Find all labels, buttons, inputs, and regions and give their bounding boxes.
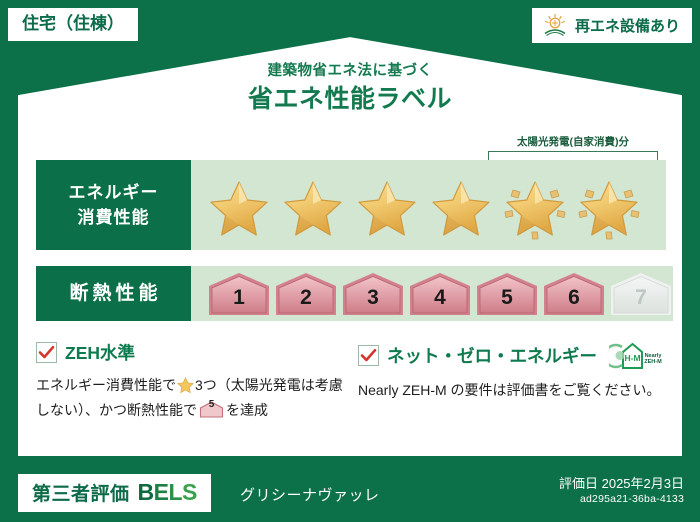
insulation-badge-track: 1234567 [191, 266, 673, 321]
project-name: グリシーナヴァッレ [240, 484, 380, 505]
bels-certification-plate: 第三者評価 BELS [18, 474, 211, 512]
bels-letter-s: S [182, 479, 197, 505]
insulation-badge: 2 [274, 271, 338, 317]
insulation-badge-number: 4 [434, 287, 446, 317]
insulation-badge-number: 5 [501, 287, 513, 317]
zeh-note-title: ZEH水準 [65, 340, 135, 365]
renewable-energy-badge: 再エネ設備あり [532, 8, 692, 43]
bels-letter-b: B [138, 479, 154, 505]
label-main-title: 省エネ性能ラベル [0, 82, 700, 116]
bels-logo: BELS [138, 479, 197, 506]
star-icon [205, 175, 273, 241]
energy-performance-label: 住宅（住棟） 再エネ設備あり 建築物省エネ法に基づく [0, 0, 700, 522]
bels-letter-e: E [154, 479, 169, 505]
insulation-badge: 5 [475, 271, 539, 317]
energy-performance-label: エネルギー 消費性能 [36, 160, 191, 250]
energy-star-track: 太陽光発電(自家消費)分 [191, 160, 666, 250]
nze-note-header: ネット・ゼロ・エネルギー H-M Nearly ZEH-M [358, 340, 680, 370]
label-subtitle: 建築物省エネ法に基づく [0, 62, 700, 81]
energy-label-line2: 消費性能 [78, 205, 150, 230]
insulation-performance-label: 断熱性能 [36, 266, 191, 321]
insulation-badge: 6 [542, 271, 606, 317]
evaluation-info: 評価日 2025年2月3日 ad295a21-36ba-4133 [559, 475, 684, 507]
check-mark-icon [358, 345, 379, 366]
svg-text:ZEH-M: ZEH-M [644, 359, 662, 365]
svg-text:Nearly: Nearly [645, 353, 663, 359]
insulation-badge: 4 [408, 271, 472, 317]
svg-text:H-M: H-M [624, 353, 640, 363]
evaluation-id: ad295a21-36ba-4133 [559, 492, 684, 507]
inline-insulation-badge: 5 [199, 401, 224, 418]
solar-annotation-label: 太陽光発電(自家消費)分 [488, 136, 658, 149]
insulation-badge: 1 [207, 271, 271, 317]
insulation-badge-number: 2 [300, 287, 312, 317]
net-zero-energy-note: ネット・ゼロ・エネルギー H-M Nearly ZEH-M Nearly ZEH… [350, 340, 680, 423]
star-icon [353, 175, 421, 241]
energy-label-line1: エネルギー [69, 180, 159, 205]
check-mark-icon [36, 342, 57, 363]
renewable-energy-label: 再エネ設備あり [575, 15, 680, 36]
solar-bracket [488, 151, 658, 160]
star-icon [427, 175, 495, 241]
building-type-label: 住宅（住棟） [22, 14, 124, 34]
insulation-badge-number: 6 [568, 287, 580, 317]
insulation-badge-number: 1 [233, 287, 245, 317]
star-icon [279, 175, 347, 241]
insulation-badge-number: 3 [367, 287, 379, 317]
nze-note-body: Nearly ZEH-M の要件は評価書をご覧ください。 [358, 378, 680, 403]
insulation-badge: 3 [341, 271, 405, 317]
star-icon [575, 175, 643, 241]
star-icon [501, 175, 569, 241]
label-title-block: 建築物省エネ法に基づく 省エネ性能ラベル [0, 62, 700, 116]
zeh-standard-note: ZEH水準 エネルギー消費性能で3つ（太陽光発電は考慮しない）、かつ断熱性能で5… [0, 340, 350, 423]
insulation-badge-number: 7 [635, 287, 647, 317]
third-party-label: 第三者評価 [32, 479, 130, 506]
building-type-badge: 住宅（住棟） [8, 8, 138, 41]
sun-renewable-icon [542, 13, 568, 37]
star-rating-group [191, 175, 643, 241]
star-icon [177, 376, 194, 393]
bels-letter-l: L [168, 479, 182, 505]
insulation-badge: 7 [609, 271, 673, 317]
solar-contribution-annotation: 太陽光発電(自家消費)分 [488, 136, 658, 160]
inline-badge-number: 5 [199, 401, 224, 418]
zeh-m-house-logo: H-M Nearly ZEH-M [609, 340, 667, 370]
zeh-note-body-part1: エネルギー消費性能で [36, 377, 176, 393]
evaluation-date: 評価日 2025年2月3日 [559, 475, 684, 492]
zeh-note-header: ZEH水準 [36, 340, 350, 365]
notes-section: ZEH水準 エネルギー消費性能で3つ（太陽光発電は考慮しない）、かつ断熱性能で5… [0, 340, 700, 423]
insulation-performance-row: 断熱性能 1234567 [36, 266, 666, 321]
zeh-note-body-part3: を達成 [226, 402, 268, 418]
energy-performance-row: エネルギー 消費性能 太陽光発電(自家消費)分 [36, 160, 666, 250]
insulation-badge-group: 1234567 [191, 271, 673, 317]
zeh-note-body: エネルギー消費性能で3つ（太陽光発電は考慮しない）、かつ断熱性能で5を達成 [36, 373, 350, 423]
label-footer: 第三者評価 BELS グリシーナヴァッレ 評価日 2025年2月3日 ad295… [0, 466, 700, 522]
nze-note-title: ネット・ゼロ・エネルギー [387, 343, 597, 368]
